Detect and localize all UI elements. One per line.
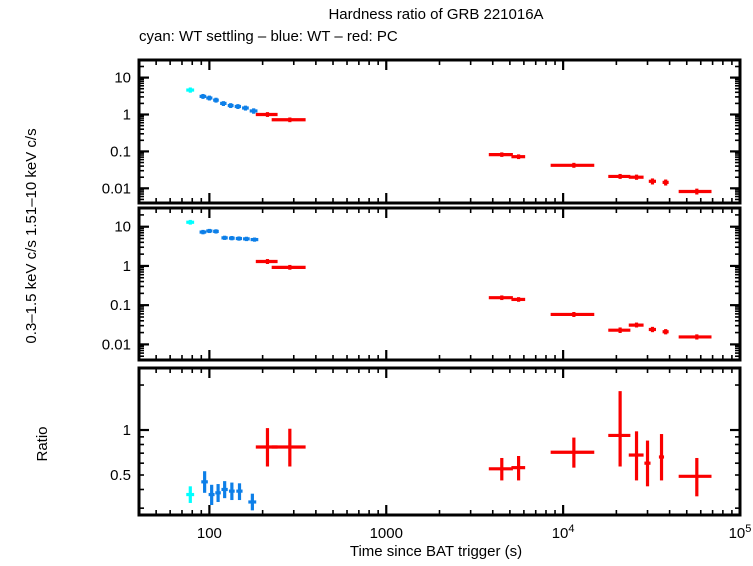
y-tick-label: 0.1 bbox=[110, 143, 131, 160]
y-tick-label: 10 bbox=[114, 70, 131, 87]
x-tick-label: 1000 bbox=[370, 525, 403, 542]
legend-subtitle: cyan: WT settling – blue: WT – red: PC bbox=[139, 28, 398, 45]
y-axis-label-upper: 0.3–1.5 keV c/s 1.51–10 keV c/s bbox=[23, 128, 40, 343]
figure-canvas: Hardness ratio of GRB 221016A cyan: WT s… bbox=[0, 0, 753, 566]
y-tick-label: 0.5 bbox=[110, 467, 131, 484]
y-tick-label: 1 bbox=[123, 107, 131, 124]
page-title: Hardness ratio of GRB 221016A bbox=[328, 6, 543, 23]
x-tick-label: 100 bbox=[197, 525, 222, 542]
data-point bbox=[206, 229, 212, 233]
x-axis-label: Time since BAT trigger (s) bbox=[350, 543, 522, 560]
y-tick-label: 10 bbox=[114, 219, 131, 236]
data-point bbox=[221, 236, 227, 240]
hardness-ratio-plot: Hardness ratio of GRB 221016A cyan: WT s… bbox=[0, 0, 753, 566]
y-axis-label-ratio: Ratio bbox=[34, 426, 51, 461]
y-tick-label: 1 bbox=[123, 422, 131, 439]
y-tick-label: 0.01 bbox=[102, 180, 131, 197]
y-tick-label: 0.01 bbox=[102, 336, 131, 353]
data-point bbox=[243, 237, 250, 241]
data-point bbox=[213, 229, 219, 233]
y-tick-label: 0.1 bbox=[110, 297, 131, 314]
data-point bbox=[229, 236, 235, 240]
y-tick-label: 1 bbox=[123, 258, 131, 275]
data-point bbox=[251, 238, 259, 242]
data-point bbox=[200, 230, 207, 234]
data-point bbox=[236, 236, 242, 240]
